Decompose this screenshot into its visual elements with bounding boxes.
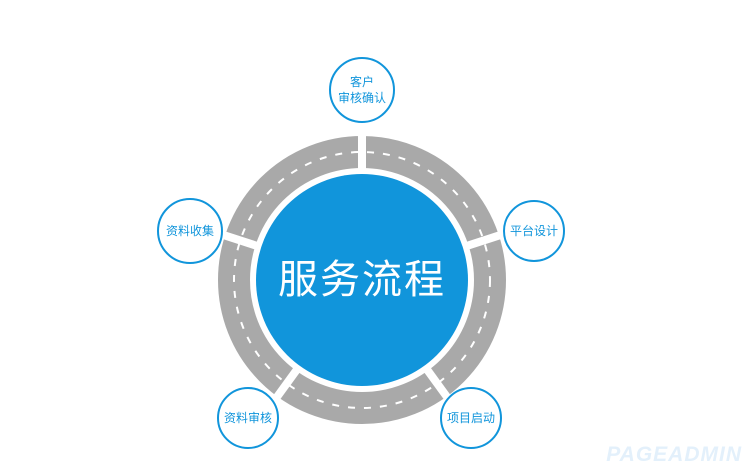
process-node-label: 项目启动 xyxy=(447,410,495,426)
watermark-pageadmin: PAGEADMIN xyxy=(606,443,742,467)
process-node-data-collection[interactable]: 资料收集 xyxy=(157,198,223,264)
process-node-project-kickoff[interactable]: 项目启动 xyxy=(440,387,502,449)
hub-label: 服务流程 xyxy=(278,260,446,300)
hub-circle: 服务流程 xyxy=(256,174,468,386)
process-node-data-review[interactable]: 资料审核 xyxy=(217,387,279,449)
process-node-label: 资料审核 xyxy=(224,410,272,426)
process-node-label: 客户 审核确认 xyxy=(338,74,386,106)
process-node-label: 平台设计 xyxy=(510,223,558,239)
process-node-label: 资料收集 xyxy=(166,223,214,239)
process-node-platform-design[interactable]: 平台设计 xyxy=(503,200,565,262)
process-node-customer-review[interactable]: 客户 审核确认 xyxy=(329,57,395,123)
service-process-diagram: 服务流程 客户 审核确认 平台设计 项目启动 资料审核 资料收集 PAGEADM… xyxy=(0,0,750,475)
